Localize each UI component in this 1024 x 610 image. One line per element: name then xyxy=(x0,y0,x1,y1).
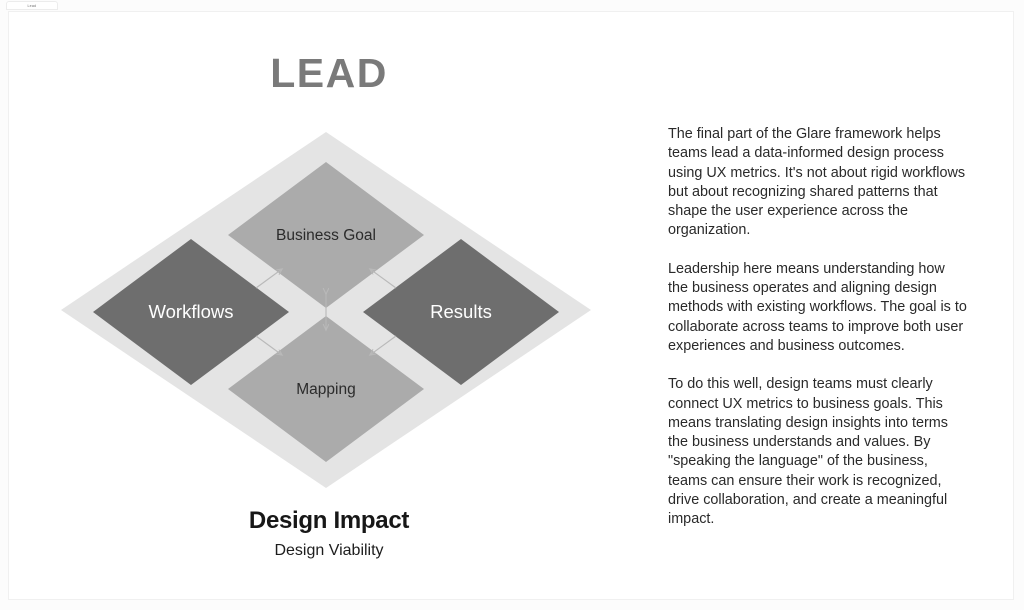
description-paragraph-3: To do this well, design teams must clear… xyxy=(668,375,968,529)
node-business-goal-label: Business Goal xyxy=(276,227,376,244)
caption-secondary: Design Viability xyxy=(9,541,649,560)
node-workflows-label: Workflows xyxy=(149,301,234,322)
browser-tab-label: Lead xyxy=(28,4,37,8)
lead-matrix-diagram: Business Goal Workflows Results Mapping xyxy=(54,122,599,497)
diagram-caption: Design Impact Design Viability xyxy=(9,507,649,561)
page-title: LEAD xyxy=(9,53,649,94)
description-column: The final part of the Glare framework he… xyxy=(668,125,968,530)
node-mapping-label: Mapping xyxy=(296,381,355,398)
description-paragraph-1: The final part of the Glare framework he… xyxy=(668,125,968,241)
browser-tab[interactable]: Lead xyxy=(6,1,58,10)
caption-primary: Design Impact xyxy=(9,507,649,535)
slide-canvas: LEAD Business Goal Workflows xyxy=(8,11,1014,600)
node-results-label: Results xyxy=(430,301,492,322)
description-paragraph-2: Leadership here means understanding how … xyxy=(668,260,968,356)
browser-chrome-bar: Lead xyxy=(0,0,1024,11)
